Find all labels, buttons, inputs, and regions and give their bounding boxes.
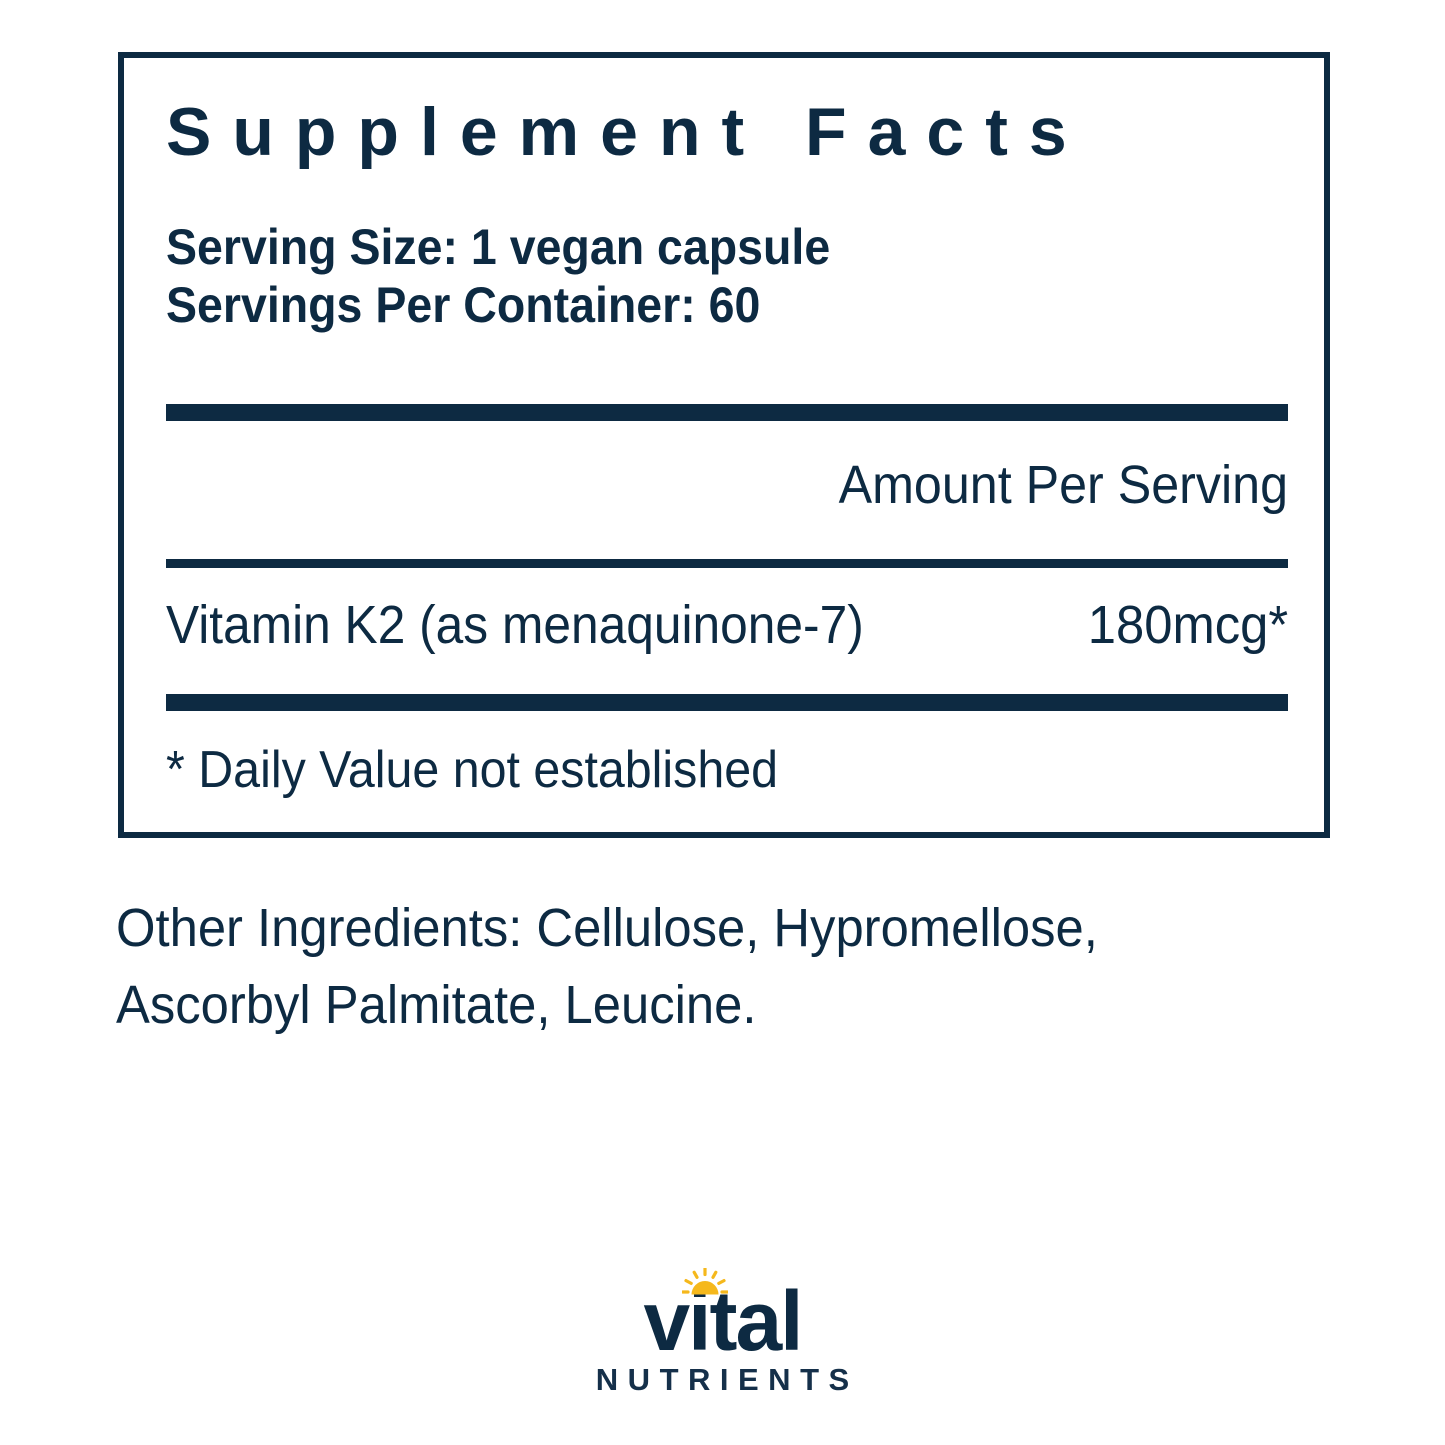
nutrient-amount: 180mcg* [1088,598,1288,652]
other-ingredients-line-1: Other Ingredients: Cellulose, Hypromello… [116,890,1197,967]
page-title: Supplement Facts [166,98,1088,166]
logo-subtext: NUTRIENTS [586,1364,858,1395]
servings-per-container-text: Servings Per Container: 60 [166,276,830,334]
amount-per-serving-header: Amount Per Serving [245,458,1288,512]
sun-icon [682,1268,728,1298]
nutrient-name: Vitamin K2 (as menaquinone-7) [166,598,864,652]
other-ingredients-block: Other Ingredients: Cellulose, Hypromello… [116,890,1197,1043]
rule-thick-bottom [166,694,1288,711]
supplement-facts-panel: Supplement Facts Serving Size: 1 vegan c… [118,52,1330,838]
logo-stack: vital NUTRIENTS [586,1282,858,1395]
brand-logo: vital NUTRIENTS [0,1282,1445,1395]
supplement-facts-inner: Supplement Facts Serving Size: 1 vegan c… [166,58,1288,832]
other-ingredients-line-2: Ascorbyl Palmitate, Leucine. [116,967,1197,1044]
serving-size-text: Serving Size: 1 vegan capsule [166,218,830,276]
rule-thin-middle [166,559,1288,568]
rule-thick-top [166,404,1288,421]
daily-value-footnote: * Daily Value not established [166,744,778,796]
serving-info: Serving Size: 1 vegan capsule Servings P… [166,218,830,334]
table-row: Vitamin K2 (as menaquinone-7) 180mcg* [166,598,1288,652]
